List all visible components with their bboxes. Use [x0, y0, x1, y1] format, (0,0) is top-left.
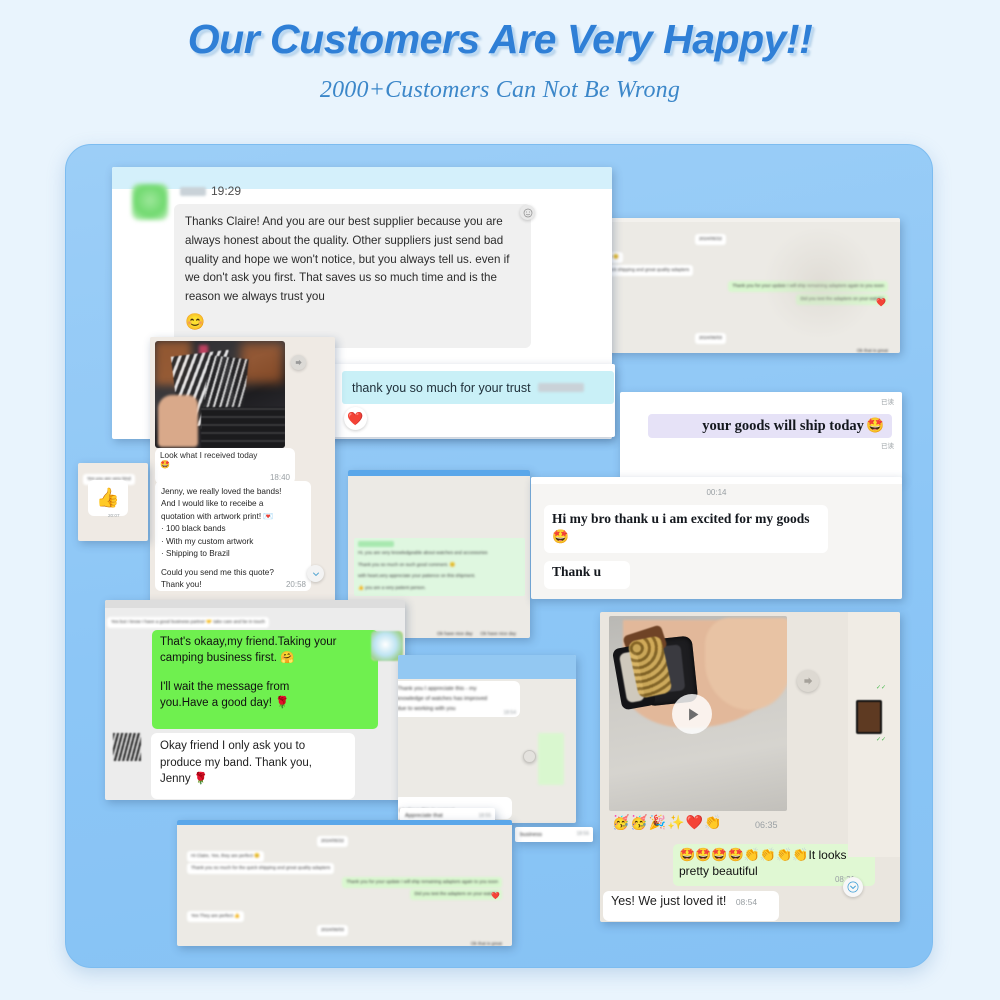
message-line: Did you test the adapters on your watch?: [410, 882, 502, 900]
card-bands-quotation[interactable]: Look what I received today 🤩 18:40 Jenny…: [150, 337, 335, 607]
heart-reaction-icon: ❤️: [491, 892, 500, 900]
message-text: thank you so much for your trust: [352, 381, 531, 395]
date-chip: 2024/05/22: [695, 227, 726, 245]
green-line: camping business first. 🤗: [160, 651, 370, 667]
side-column: [848, 612, 900, 857]
message-line: Thank you so much on such good comment. …: [358, 561, 521, 570]
green-line: you.Have a good day! 🌹: [160, 696, 370, 712]
quote-line: · 100 black bands: [161, 523, 305, 535]
green-message-bubble: That's okaay,my friend.Taking your campi…: [152, 630, 378, 729]
happy-emoji: 🤩: [866, 417, 884, 435]
quote-line: Thank you!: [161, 579, 305, 591]
chevron-down-icon[interactable]: [843, 877, 863, 897]
card-ship-today[interactable]: 已读 your goods will ship today 🤩 已读: [620, 392, 902, 480]
top-strip-line: Yes but I know I have a good business pa…: [107, 610, 269, 628]
page-subtitle: 2000+Customers Can Not Be Wrong: [0, 77, 1000, 104]
quote-time: 20:58: [286, 580, 306, 589]
photo-caption: Look what I received today: [160, 451, 290, 460]
date-chip: 2024/06/03: [317, 918, 348, 936]
avatar: [113, 733, 141, 761]
message-line: Thank you so much for the quick shipping…: [187, 856, 334, 874]
thumbs-up-time: 20:07: [108, 513, 120, 518]
happy-emoji: 🤩: [552, 529, 569, 544]
message-line: Thank you I appreciate this - my: [398, 684, 515, 694]
reply-line: Okay friend I only ask you to: [160, 738, 346, 755]
message-line: Ok that is great: [857, 339, 888, 353]
card-camping-business[interactable]: Yes but I know I have a good business pa…: [105, 600, 405, 800]
green-line: I'll wait the message from: [160, 680, 370, 696]
heart-reaction-icon: ❤️: [876, 298, 886, 307]
card-thank-you-trust[interactable]: thank you so much for your trust ❤️: [330, 364, 615, 437]
sender-redacted: [358, 541, 394, 547]
card-adapters-chat-bottom[interactable]: 2024/05/22 Hi Claire, Yes, they are perf…: [177, 820, 512, 946]
message-bubble: Thanks Claire! And you are our best supp…: [174, 204, 531, 348]
message-bubble: Thank you I appreciate this - my knowled…: [398, 681, 520, 717]
avatar: [132, 184, 168, 220]
quote-line: · Shipping to Brazil: [161, 548, 305, 560]
message-text: your goods will ship today: [702, 418, 864, 435]
message-line: Ok that is great: [471, 932, 502, 946]
photo-caption-bubble: Look what I received today 🤩 18:40: [155, 448, 295, 484]
redacted-name: [538, 383, 584, 392]
message-bubble: your goods will ship today 🤩: [648, 414, 892, 438]
page-title: Our Customers Are Very Happy!!: [0, 16, 1000, 63]
green-message-group: [538, 733, 564, 785]
message-line: due to working with you: [398, 704, 515, 714]
reply-line: Jenny 🌹: [160, 771, 346, 788]
received-bands-photo[interactable]: [155, 341, 285, 448]
reply-text: Yes! We just loved it!: [611, 894, 726, 908]
chat-time: 00:14: [531, 488, 902, 497]
message-line: Hi, you are very knowledgeable about wat…: [358, 549, 521, 558]
reaction-emojis: 🤩🤩🤩🤩👏👏👏👏: [679, 847, 809, 862]
card-watch-knowledge[interactable]: Thank you I appreciate this - my knowled…: [398, 655, 576, 823]
forward-arrow-icon[interactable]: [797, 670, 819, 692]
watermark: [760, 228, 880, 338]
message-text: Thanks Claire! And you are our best supp…: [185, 215, 509, 303]
green-message-group: Hi, you are very knowledgeable about wat…: [354, 538, 525, 596]
quote-line: · With my custom artwork: [161, 536, 305, 548]
reply-time: 08:54: [736, 897, 757, 907]
smiley-emoji: 😊: [185, 310, 520, 336]
card-watch-video[interactable]: 🥳🥳🎉✨❤️👏 06:35 🤩🤩🤩🤩👏👏👏👏It looks pretty be…: [600, 612, 900, 922]
sender-name-redacted: [180, 187, 206, 196]
reply-bubble: Okay friend I only ask you to produce my…: [151, 733, 355, 799]
forward-arrow-icon[interactable]: [291, 355, 306, 370]
quote-line: And I would like to receibe a: [161, 498, 305, 510]
watch-video-thumbnail[interactable]: [609, 616, 787, 811]
thumbs-up-emoji: 👍: [88, 480, 128, 516]
message-line: Ok have nice day: [481, 630, 517, 638]
message-line: Yes They are perfect 👍: [187, 904, 244, 922]
date-chip: 2024/05/22: [317, 829, 348, 847]
message-line: with heart,very appreciate your patience…: [358, 572, 521, 581]
message-line: knowledge of watches has improved: [398, 694, 515, 704]
read-badge: 已读: [881, 396, 894, 406]
card-excited-goods[interactable]: 00:14 Hi my bro thank u i am excited for…: [531, 477, 902, 599]
quote-line: quotation with artwork print! 💌: [161, 511, 305, 523]
video-reaction-emojis: 🥳🥳🎉✨❤️👏: [612, 814, 723, 831]
reply-bubble: Yes! We just loved it! 08:54: [603, 891, 779, 921]
knowledgeable-closing-line: Ok have nice day: [437, 630, 473, 639]
smiley-reaction-icon[interactable]: [520, 205, 535, 220]
page-header: Our Customers Are Very Happy!! 2000+Cust…: [0, 0, 1000, 140]
chevron-down-icon[interactable]: [307, 565, 324, 582]
quote-line: Jenny, we really loved the bands!: [161, 486, 305, 498]
date-chip: 2024/06/03: [695, 326, 726, 344]
play-icon[interactable]: [672, 694, 712, 734]
read-check-icon: ✓✓: [876, 684, 886, 691]
message-text: Hi my bro thank u i am excited for my go…: [552, 511, 810, 526]
video-time: 06:35: [755, 820, 778, 830]
message-bubble: Thank u: [544, 561, 630, 589]
message-timestamp: 19:29: [211, 184, 241, 198]
read-badge: 已读: [881, 440, 894, 450]
card-thumbs-up[interactable]: Yes you are very kind 👍 20:07: [78, 463, 148, 541]
message-bubble: Hi my bro thank u i am excited for my go…: [544, 505, 828, 553]
message-time: 18:54: [503, 710, 516, 716]
read-check-icon: ✓✓: [876, 736, 886, 743]
quote-line: Could you send me this quote?: [161, 567, 305, 579]
heart-reaction-icon[interactable]: ❤️: [344, 407, 367, 430]
green-line: That's okaay,my friend.Taking your: [160, 635, 370, 651]
message-line: 👍 you are a very patient person.: [358, 584, 521, 593]
chat-header-bar: [398, 655, 576, 679]
caption-emoji: 🤩: [160, 460, 290, 469]
forward-arrow-icon[interactable]: [523, 750, 536, 763]
reply-line: produce my band. Thank you,: [160, 755, 346, 772]
card-business-line[interactable]: business 18:56: [515, 827, 593, 842]
message-bubble: thank you so much for your trust: [342, 371, 614, 404]
message-text: Thank u: [552, 564, 601, 579]
chat-top-bar: [348, 470, 530, 476]
quotation-bubble: Jenny, we really loved the bands! And I …: [155, 481, 311, 591]
side-thumbnail[interactable]: [856, 700, 882, 734]
chat-header-bar: [112, 167, 612, 189]
